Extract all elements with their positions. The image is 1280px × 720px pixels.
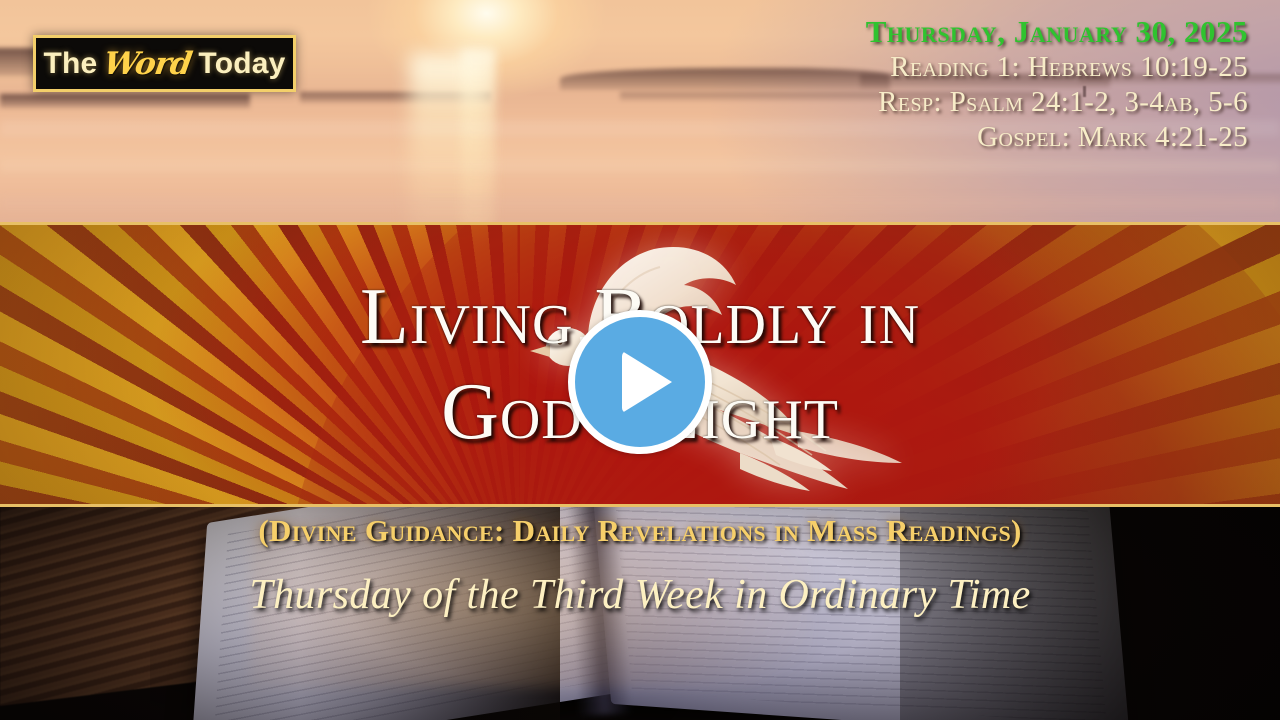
channel-logo[interactable]: The Word Today — [33, 35, 296, 92]
mass-readings-block: Thursday, January 30, 2025 Reading 1: He… — [866, 14, 1248, 154]
video-frame: The Word Today Thursday, January 30, 202… — [0, 0, 1280, 720]
water-band — [0, 160, 1280, 172]
logo-text-word: Word — [102, 46, 195, 82]
reading-date: Thursday, January 30, 2025 — [866, 14, 1248, 49]
play-button[interactable] — [568, 310, 712, 454]
play-triangle-icon — [622, 351, 672, 413]
reading-first: Reading 1: Hebrews 10:19-25 — [866, 51, 1248, 84]
reading-gospel: Gospel: Mark 4:21-25 — [866, 121, 1248, 154]
reading-responsorial: Resp: Psalm 24:1-2, 3-4ab, 5-6 — [866, 86, 1248, 119]
shoreline-shape — [0, 94, 250, 108]
liturgical-season-line: Thursday of the Third Week in Ordinary T… — [0, 571, 1280, 619]
logo-text-the: The — [43, 47, 97, 81]
water-band — [0, 196, 1280, 210]
logo-text-today: Today — [198, 47, 285, 81]
shoreline-shape — [560, 68, 890, 90]
series-subtitle: (Divine Guidance: Daily Revelations in M… — [0, 513, 1280, 549]
